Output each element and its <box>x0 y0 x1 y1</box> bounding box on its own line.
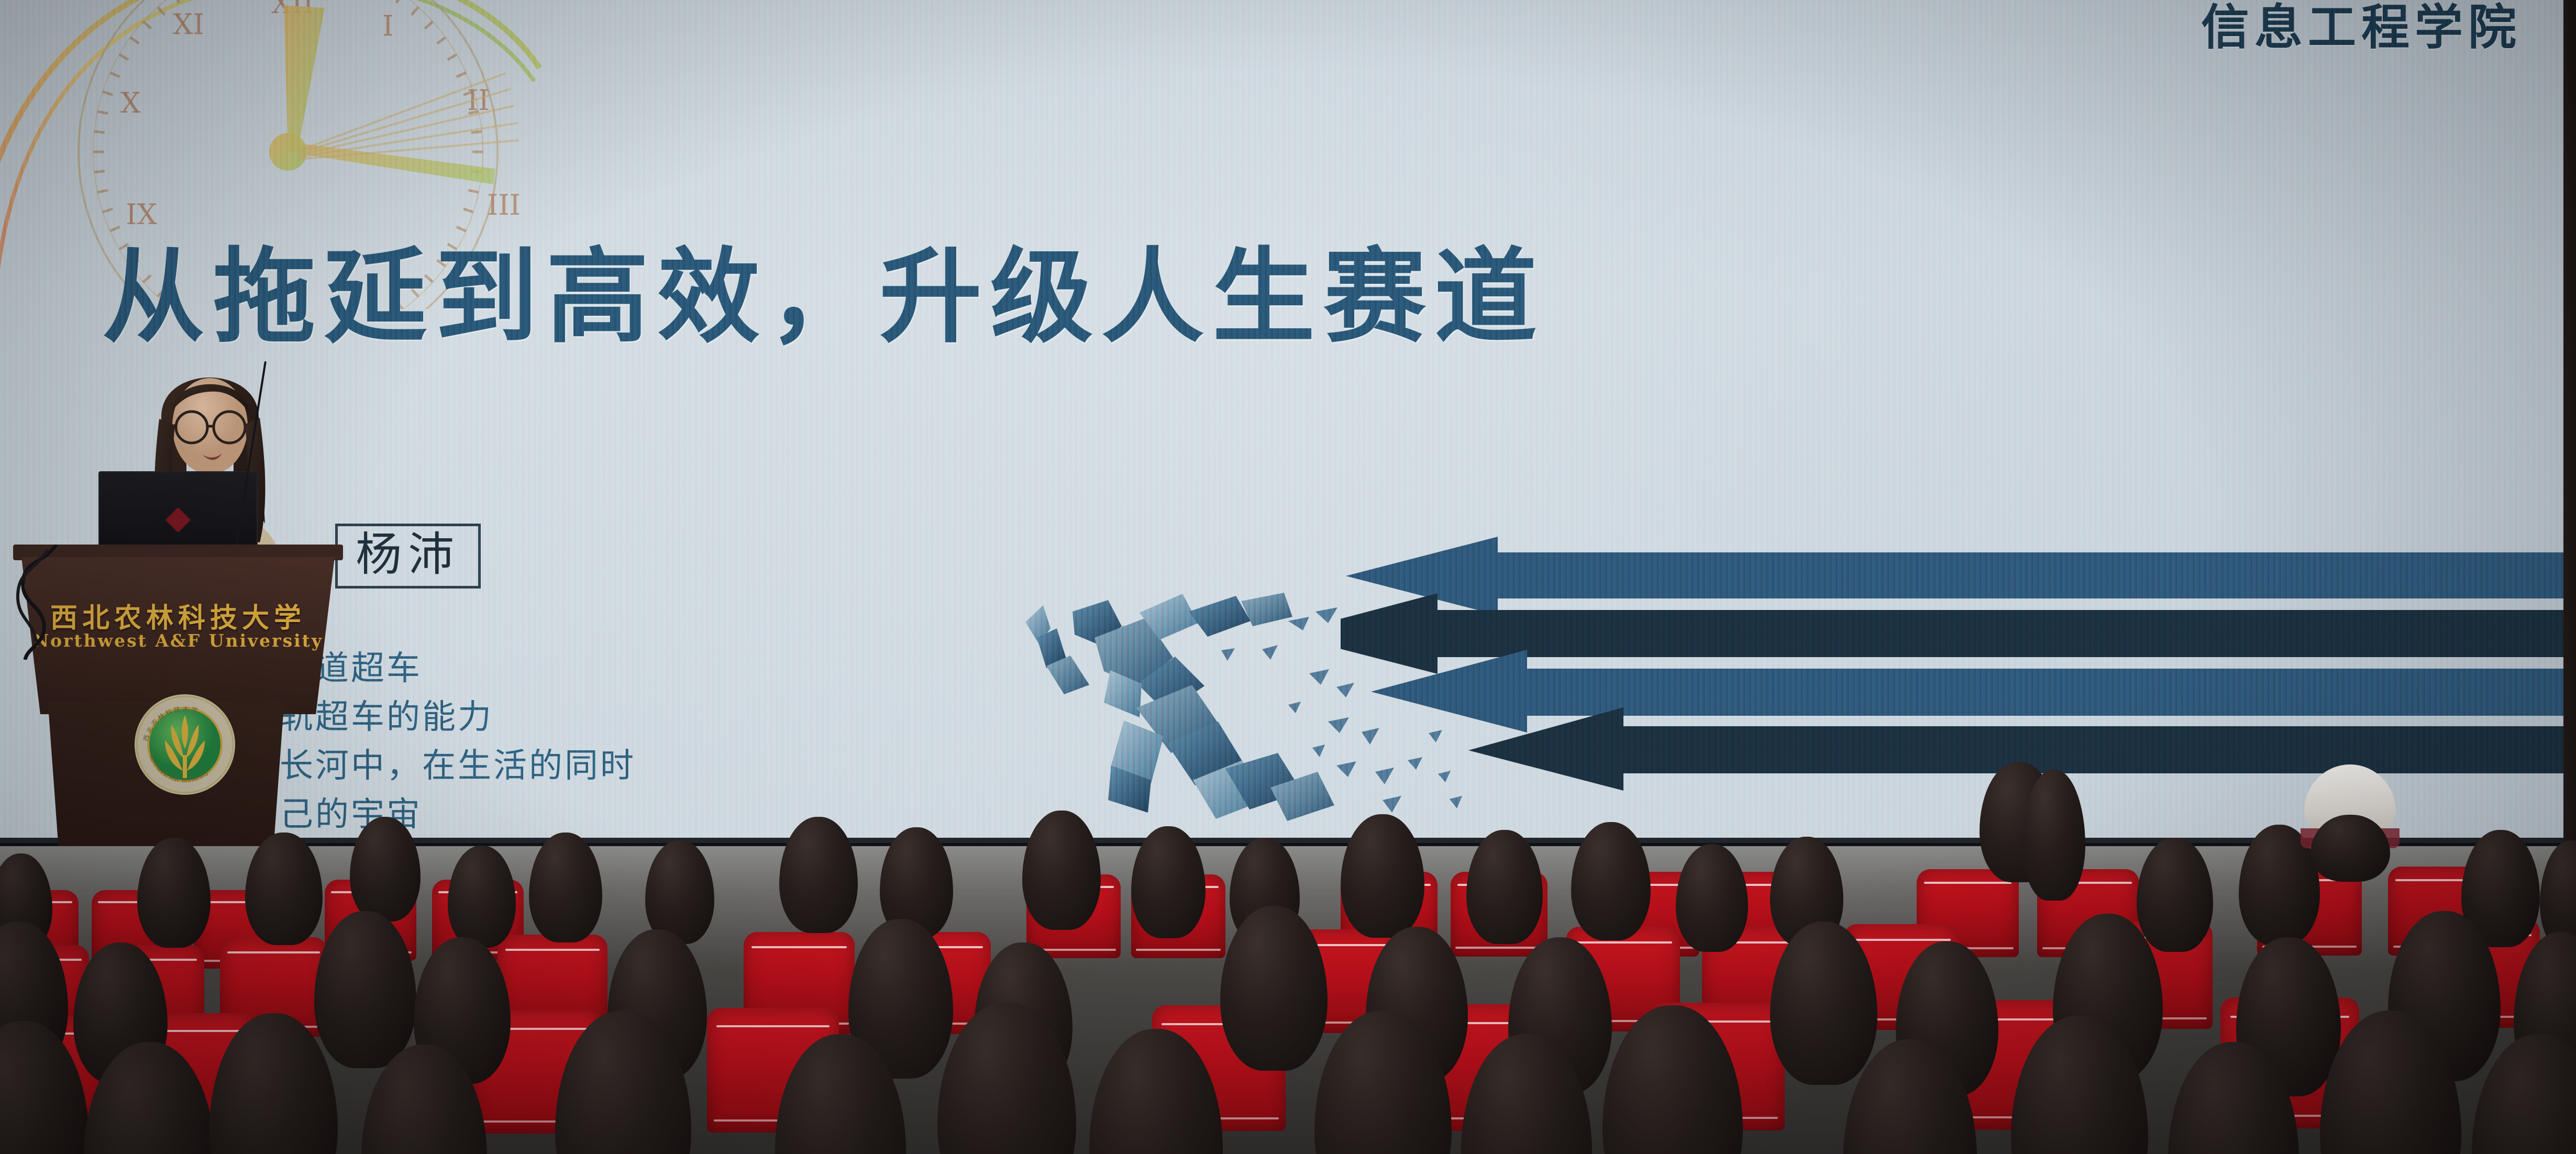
left-arrow-group <box>1341 537 2563 791</box>
slide-main-title: 从拖延到高效，升级人生赛道 <box>102 246 1545 349</box>
wheat-crest-emblem-icon: 西 北 农 林 科 技 大 学 Northwest A&F University <box>132 692 237 797</box>
slide-department-header: 信息工程学院 <box>2201 0 2522 58</box>
svg-text:I: I <box>382 9 393 42</box>
left-arrow-icon-3 <box>1371 650 2563 733</box>
left-arrow-icon-1 <box>1346 537 2563 615</box>
svg-text:IX: IX <box>126 198 157 231</box>
speaker-name-text: 杨沛 <box>356 527 460 581</box>
wall-right <box>2563 0 2576 859</box>
speaker-name-box: 杨沛 <box>335 524 481 589</box>
laptop-logo-icon <box>165 507 191 532</box>
lecture-hall-photo: XII I II III XI X IX <box>0 0 2576 1154</box>
svg-text:X: X <box>120 86 141 119</box>
svg-text:III: III <box>487 188 521 221</box>
coiled-cable-icon <box>9 545 72 660</box>
led-presentation-screen: XII I II III XI X IX <box>0 0 2563 843</box>
svg-text:XI: XI <box>173 8 204 41</box>
